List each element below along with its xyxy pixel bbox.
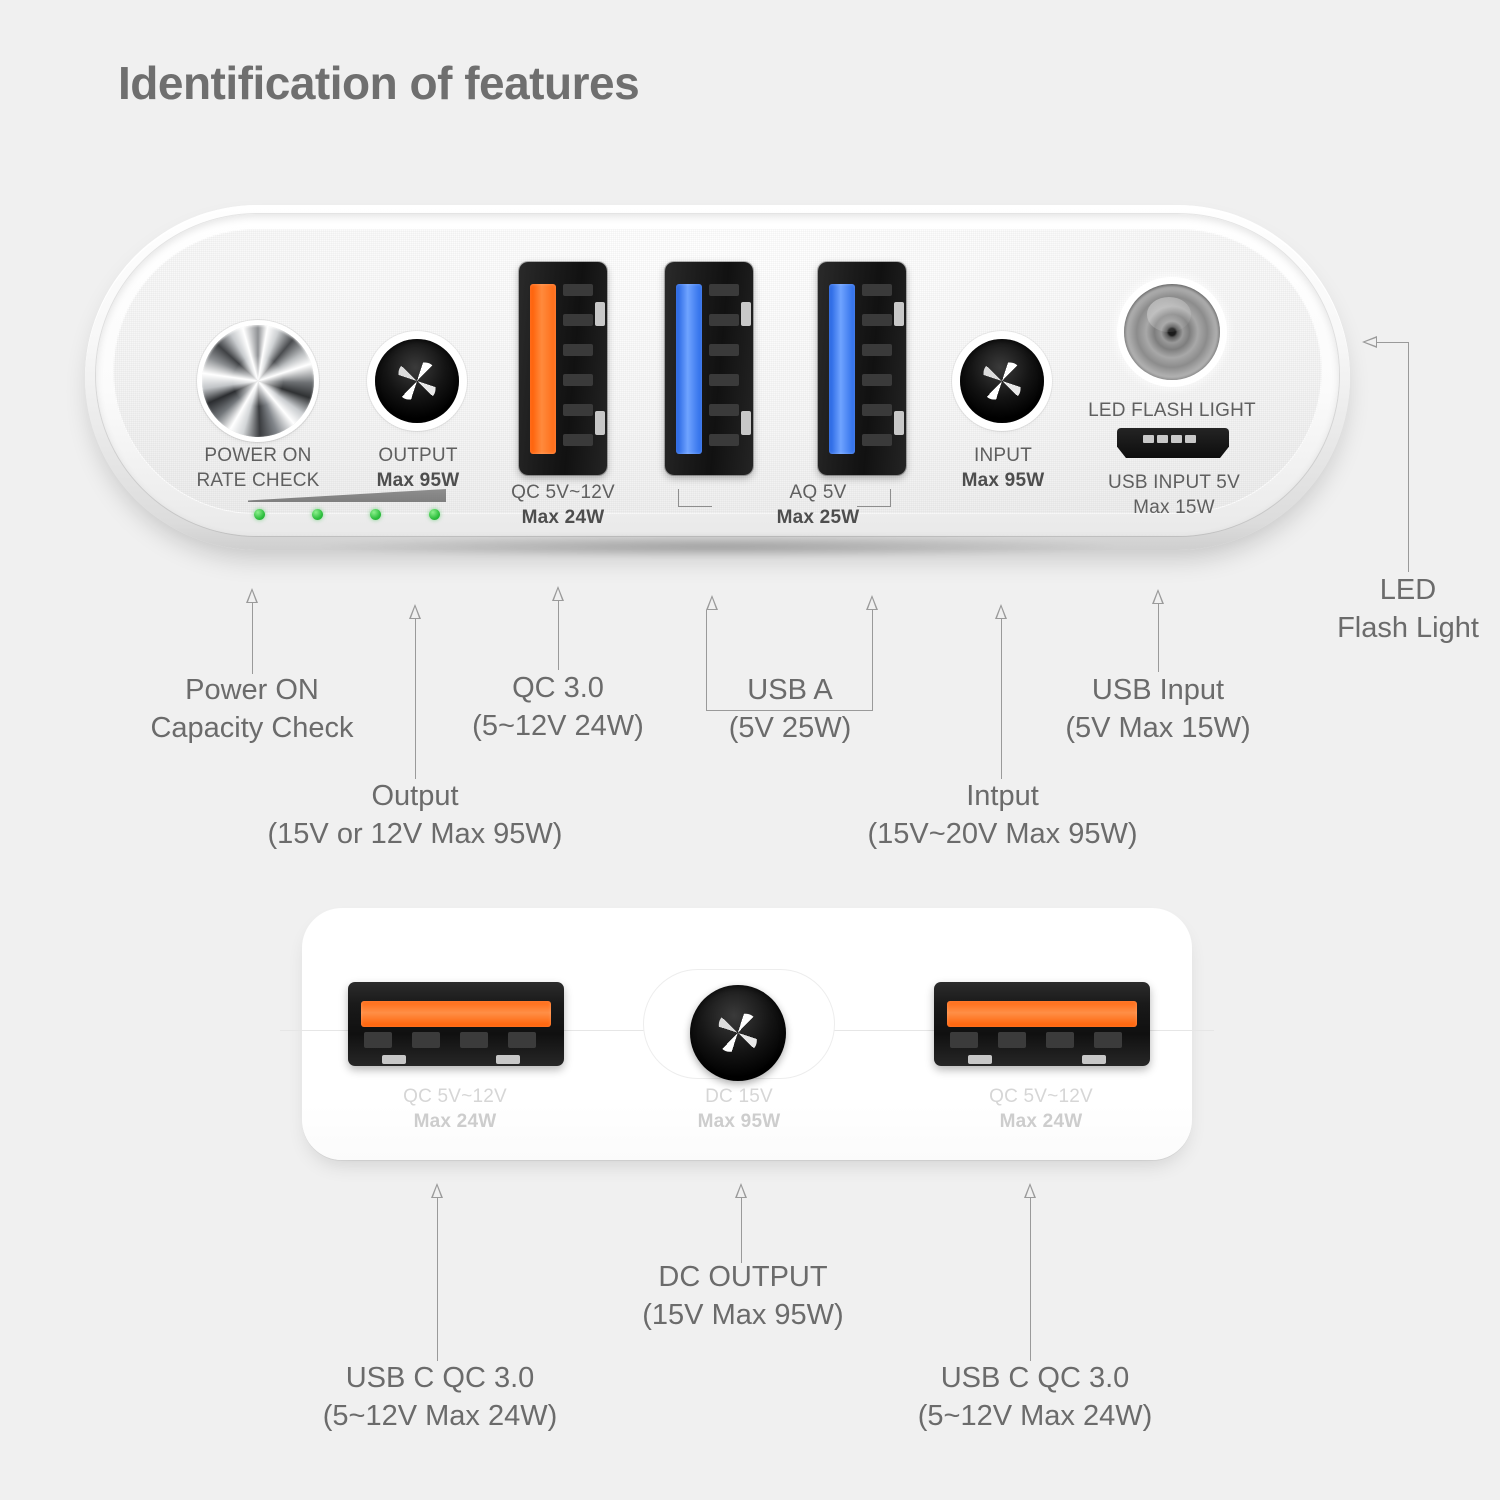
bottom-usb-left-silkscreen-label: QC 5V~12V Max 24W <box>330 1084 580 1134</box>
micro-usb-pins <box>1143 435 1196 443</box>
callout-power-on: Power ON Capacity Check <box>92 672 412 747</box>
usb-contacts <box>709 278 739 460</box>
bottom-usb-a-left-icon[interactable] <box>348 982 564 1066</box>
leader-arrow-qc30 <box>552 586 564 601</box>
leader-line-power-on <box>252 603 253 674</box>
callout-qc30-line2: (5~12V 24W) <box>428 708 688 746</box>
dc-output-jack-icon[interactable] <box>375 339 459 423</box>
callout-usb-input-line2: (5V Max 15W) <box>1018 710 1298 748</box>
usb-clip-right <box>1082 1055 1106 1064</box>
leader-arrow-usb-c-left <box>431 1183 443 1198</box>
bottom-usb-left-line1: QC 5V~12V <box>330 1084 580 1109</box>
bottom-usb-left-line2: Max 24W <box>330 1109 580 1134</box>
usb-contacts <box>950 1032 1130 1050</box>
callout-power-on-line2: Capacity Check <box>92 710 412 748</box>
page-title: Identification of features <box>118 56 639 110</box>
usb-tongue-orange <box>947 1001 1137 1027</box>
callout-usb-c-right: USB C QC 3.0 (5~12V Max 24W) <box>885 1360 1185 1435</box>
flash-light-silkscreen-label: LED FLASH LIGHT <box>1082 398 1262 423</box>
dc-jack-pin-icon <box>984 363 1021 400</box>
usb-contacts <box>364 1032 544 1050</box>
callout-usb-input: USB Input (5V Max 15W) <box>1018 672 1298 747</box>
usb-tongue-blue <box>676 284 702 454</box>
usb-a-port-aq-2-icon[interactable] <box>818 262 906 475</box>
input-jack-silkscreen-label: INPUT Max 95W <box>937 443 1069 493</box>
usb-clip-left <box>968 1055 992 1064</box>
callout-usb-c-right-line1: USB C QC 3.0 <box>941 1362 1130 1394</box>
dc-jack-pin-icon <box>719 1014 757 1052</box>
callout-output: Output (15V or 12V Max 95W) <box>240 778 590 853</box>
callout-usb-a-line2: (5V 25W) <box>690 710 890 748</box>
usb-clip-left <box>382 1055 406 1064</box>
usb-tongue-blue <box>829 284 855 454</box>
usb-clip-top <box>741 302 751 326</box>
usb-clip-bottom <box>894 411 904 435</box>
callout-input: Intput (15V~20V Max 95W) <box>830 778 1175 853</box>
bottom-usb-a-right-icon[interactable] <box>934 982 1150 1066</box>
usb-clip-right <box>496 1055 520 1064</box>
power-button-icon[interactable] <box>202 325 314 437</box>
leader-arrow-input <box>995 604 1007 619</box>
callout-usb-c-left-line2: (5~12V Max 24W) <box>290 1398 590 1436</box>
callout-led-flash-line1: LED <box>1380 574 1436 606</box>
usb-clip-top <box>894 302 904 326</box>
usb-tongue-orange <box>530 284 556 454</box>
leader-line-usb-c-left <box>437 1198 438 1361</box>
callout-output-line1: Output <box>371 780 458 812</box>
power-button-silkscreen-label: POWER ON RATE CHECK <box>150 443 366 493</box>
callout-output-line2: (15V or 12V Max 95W) <box>240 816 590 854</box>
callout-dc-output-line1: DC OUTPUT <box>658 1261 827 1293</box>
callout-usb-a: USB A (5V 25W) <box>690 672 890 747</box>
leader-arrow-led-flash <box>1362 336 1377 348</box>
callout-input-line1: Intput <box>966 780 1039 812</box>
micro-label-line2: Max 15W <box>1086 495 1262 520</box>
leader-arrow-usb-input <box>1152 589 1164 604</box>
usb-tongue-orange <box>361 1001 551 1027</box>
leader-line-led-flash-h <box>1377 342 1409 343</box>
leader-line-output <box>415 619 416 779</box>
usb-qc-silkscreen-label: QC 5V~12V Max 24W <box>466 480 660 530</box>
usb-clip-bottom <box>595 411 605 435</box>
bottom-dc-output-jack-icon[interactable] <box>690 985 786 1081</box>
usb-a-port-qc-icon[interactable] <box>519 262 607 475</box>
usb-aq-silkscreen-label: AQ 5V Max 25W <box>736 480 900 530</box>
leader-line-dc-output <box>741 1198 742 1263</box>
callout-input-line2: (15V~20V Max 95W) <box>830 816 1175 854</box>
leader-line-usb-c-right <box>1030 1198 1031 1361</box>
power-label-line1: POWER ON <box>150 443 366 468</box>
callout-usb-c-left: USB C QC 3.0 (5~12V Max 24W) <box>290 1360 590 1435</box>
micro-label-line1: USB INPUT 5V <box>1086 470 1262 495</box>
micro-usb-port-icon[interactable] <box>1117 428 1229 458</box>
callout-qc30: QC 3.0 (5~12V 24W) <box>428 670 688 745</box>
usb-clip-bottom <box>741 411 751 435</box>
usb-aq-label-line1: AQ 5V <box>736 480 900 505</box>
bottom-dc-line1: DC 15V <box>663 1084 815 1109</box>
callout-led-flash-line2: Flash Light <box>1262 610 1500 648</box>
callout-dc-output: DC OUTPUT (15V Max 95W) <box>598 1259 888 1334</box>
bottom-dc-line2: Max 95W <box>663 1109 815 1134</box>
usb-aq-label-line2: Max 25W <box>736 505 900 530</box>
leader-arrow-usb-c-right <box>1024 1183 1036 1198</box>
output-label-line1: OUTPUT <box>348 443 488 468</box>
dc-jack-pin-icon <box>399 363 436 400</box>
input-label-line2: Max 95W <box>937 468 1069 493</box>
callout-power-on-line1: Power ON <box>185 674 319 706</box>
device-drop-shadow <box>155 536 1280 562</box>
leader-line-input <box>1001 619 1002 779</box>
leader-arrow-output <box>409 604 421 619</box>
callout-dc-output-line2: (15V Max 95W) <box>598 1297 888 1335</box>
capacity-led-2 <box>312 509 323 520</box>
capacity-led-3 <box>370 509 381 520</box>
bottom-usb-right-line2: Max 24W <box>916 1109 1166 1134</box>
leader-line-qc30 <box>558 601 559 670</box>
usb-clip-top <box>595 302 605 326</box>
callout-qc30-line1: QC 3.0 <box>512 672 604 704</box>
leader-line-usb-input <box>1158 604 1159 672</box>
callout-usb-a-line1: USB A <box>747 674 832 706</box>
usb-qc-label-line1: QC 5V~12V <box>466 480 660 505</box>
callout-usb-c-right-line2: (5~12V Max 24W) <box>885 1398 1185 1436</box>
leader-line-led-flash-v <box>1408 342 1409 572</box>
power-label-line2: RATE CHECK <box>150 468 366 493</box>
micro-usb-silkscreen-label: USB INPUT 5V Max 15W <box>1086 470 1262 520</box>
usb-a-port-aq-1-icon[interactable] <box>665 262 753 475</box>
callout-led-flash: LED Flash Light <box>1262 572 1500 647</box>
led-flash-light-icon[interactable] <box>1124 284 1220 380</box>
bottom-usb-right-silkscreen-label: QC 5V~12V Max 24W <box>916 1084 1166 1134</box>
flash-label-text: LED FLASH LIGHT <box>1082 398 1262 423</box>
usb-qc-label-line2: Max 24W <box>466 505 660 530</box>
dc-input-jack-icon[interactable] <box>960 339 1044 423</box>
leader-arrow-usb-a-right <box>866 595 878 610</box>
bottom-usb-right-line1: QC 5V~12V <box>916 1084 1166 1109</box>
callout-usb-c-left-line1: USB C QC 3.0 <box>346 1362 535 1394</box>
leader-arrow-usb-a-left <box>706 595 718 610</box>
bottom-dc-silkscreen-label: DC 15V Max 95W <box>663 1084 815 1134</box>
diagram-canvas: Identification of features POWER ON RATE… <box>0 0 1500 1500</box>
capacity-led-1 <box>254 509 265 520</box>
capacity-led-4 <box>429 509 440 520</box>
leader-arrow-dc-output <box>735 1183 747 1198</box>
usb-contacts <box>862 278 892 460</box>
usb-contacts <box>563 278 593 460</box>
input-label-line1: INPUT <box>937 443 1069 468</box>
callout-usb-input-line1: USB Input <box>1092 674 1224 706</box>
leader-arrow-power-on <box>246 588 258 603</box>
